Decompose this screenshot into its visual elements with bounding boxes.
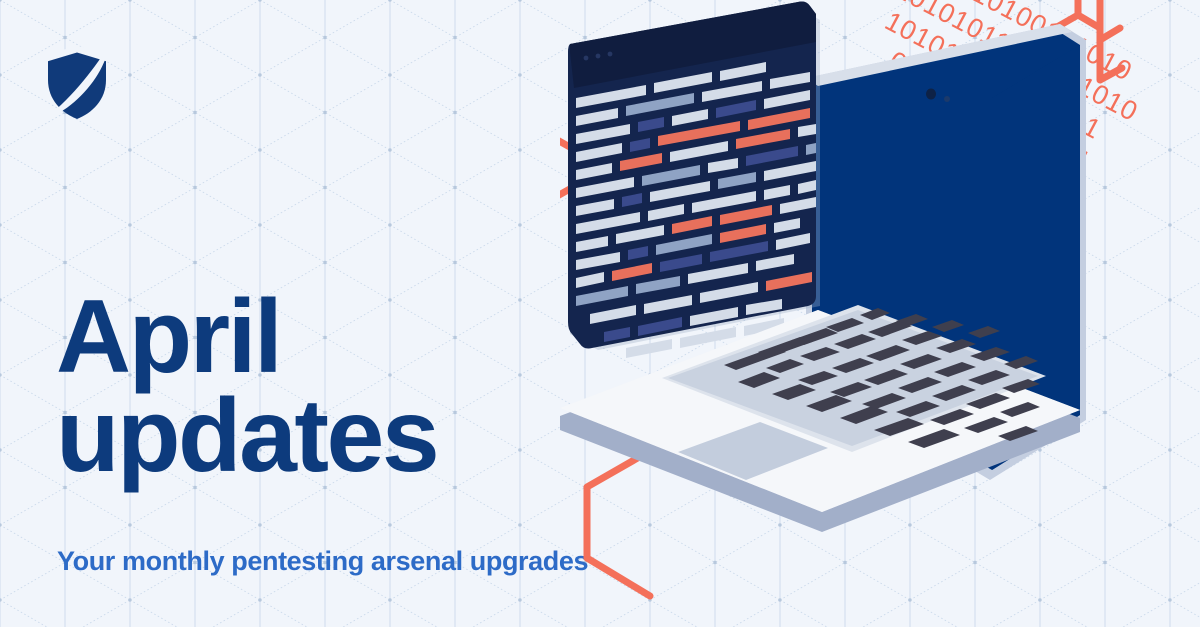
svg-text:01010101010101: 01010101010101: [884, 45, 1096, 177]
marketing-banner: April updates Your monthly pentesting ar…: [0, 0, 1200, 627]
svg-text:010101010101: 010101010101: [892, 124, 1076, 241]
page-title: April updates: [56, 288, 616, 486]
svg-text:01011010100101010: 01011010100101010: [885, 0, 1138, 87]
svg-text:101010101: 101010101: [900, 203, 1041, 297]
page-subtitle: Your monthly pentesting arsenal upgrades: [57, 546, 588, 577]
accent-line-z: [560, 102, 607, 234]
svg-text:1010101: 1010101: [908, 282, 1021, 361]
accent-line-top-right: [945, 0, 1122, 91]
binary-rain: 01011010100101010 010101011010101010 101…: [745, 0, 1160, 361]
laptop-base: [560, 305, 1080, 532]
laptop-lid: [806, 24, 1086, 480]
laptop: [560, 2, 1086, 533]
laptop-illustration: 01011010100101010 010101011010101010 101…: [560, 0, 1200, 627]
svg-text:1010101010101: 1010101010101: [888, 85, 1086, 209]
svg-text:01010101: 01010101: [904, 243, 1031, 330]
svg-text:101010101010101: 101010101010101: [880, 6, 1106, 145]
svg-text:010101011010101010: 010101011010101010: [876, 0, 1143, 127]
shield-logo[interactable]: [44, 44, 110, 122]
window-dots: [584, 52, 613, 61]
keyboard-keys: [724, 308, 1040, 448]
laptop-camera: [926, 89, 950, 103]
svg-text:0101010101: 0101010101: [896, 164, 1052, 266]
